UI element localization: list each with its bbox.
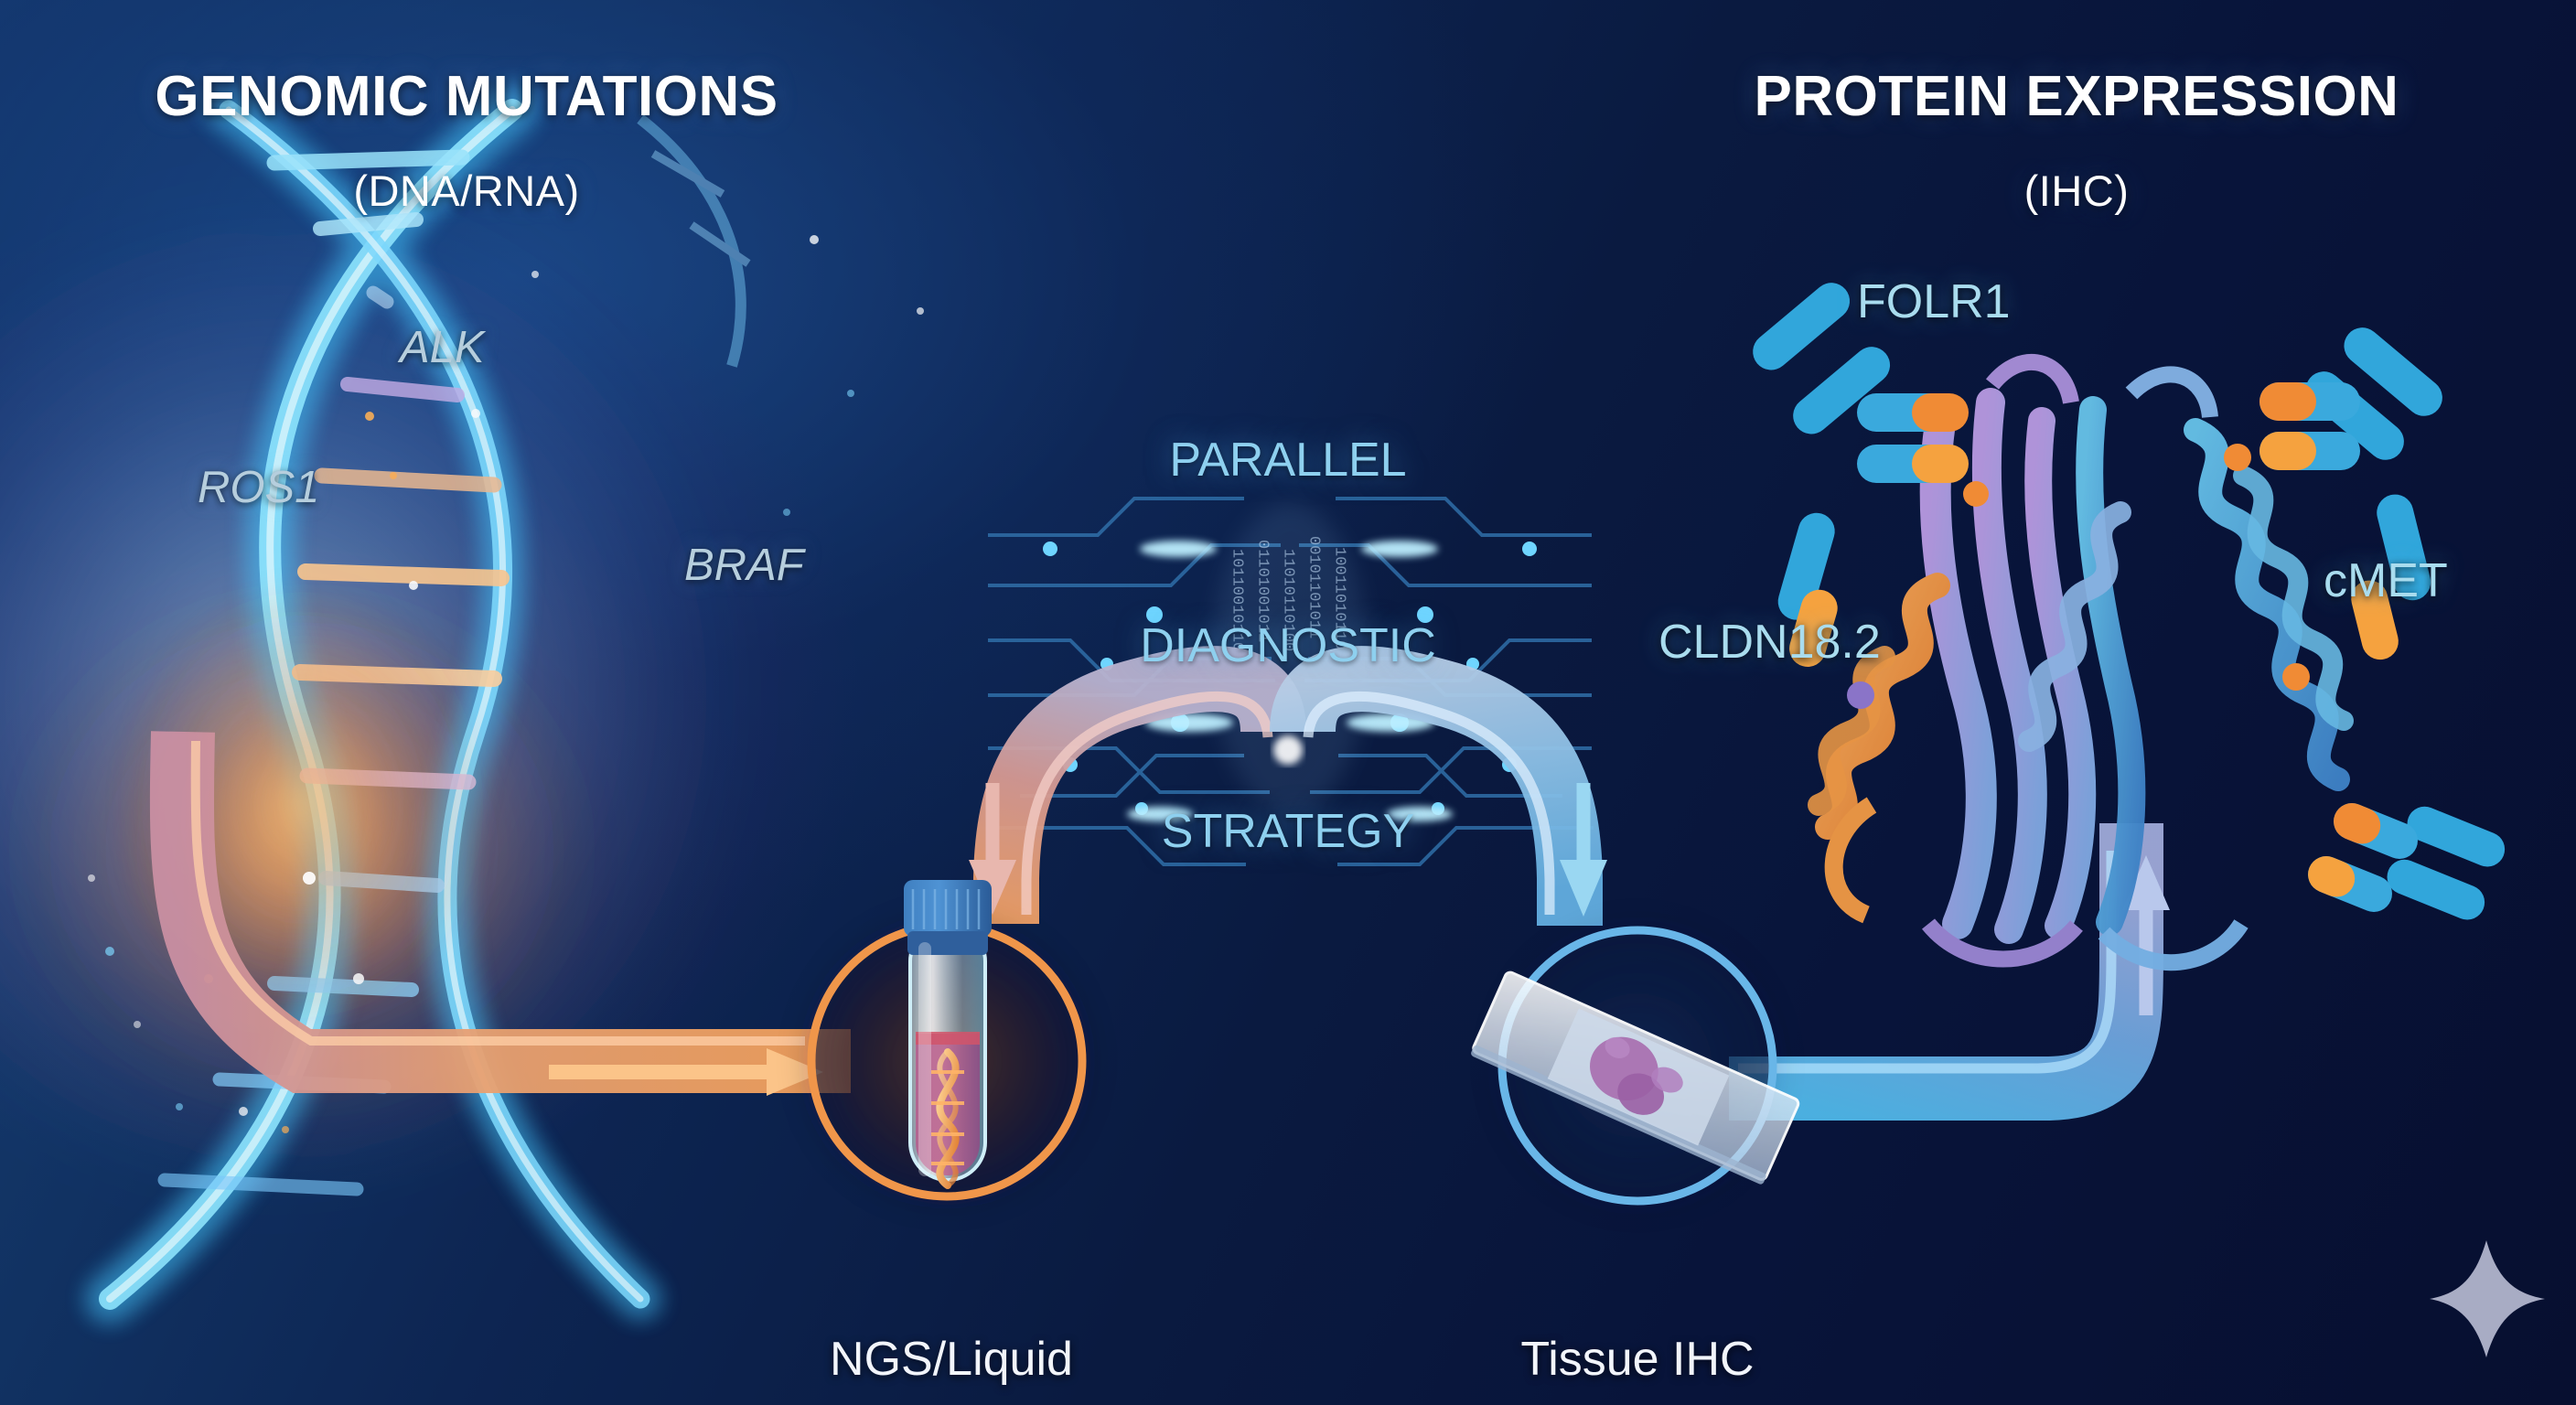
protein-label-cldn18-2: CLDN18.2	[1658, 615, 1881, 670]
right-heading-text: PROTEIN EXPRESSION	[1647, 68, 2506, 126]
protein-label-folr1: FOLR1	[1857, 274, 2011, 329]
gene-label-ros1: ROS1	[198, 462, 319, 513]
left-panel-heading: GENOMIC MUTATIONS (DNA/RNA)	[55, 35, 878, 252]
microscope-slide-icon	[1470, 971, 1800, 1185]
ihc-caption-line1: Tissue IHC	[1413, 1331, 1862, 1389]
test-tube-icon	[904, 880, 992, 1185]
background-glow	[0, 183, 750, 1207]
protein-label-cmet: cMET	[2324, 553, 2448, 608]
center-title-line2: DIAGNOSTIC	[1032, 616, 1544, 678]
ihc-node-caption: Tissue IHC Testing	[1413, 1215, 1862, 1405]
flow-ihc-to-protein	[1729, 823, 2170, 1089]
center-title-line1: PARALLEL	[1032, 430, 1544, 492]
antibody-icon-top-right	[2224, 320, 2450, 691]
ngs-node-caption: NGS/Liquid Biopsy	[723, 1215, 1180, 1405]
center-title-line3: STRATEGY	[1032, 801, 1544, 863]
gene-label-braf: BRAF	[684, 540, 804, 591]
center-title: PARALLEL DIAGNOSTIC STRATEGY	[1032, 306, 1544, 987]
dna-helix-graphic	[88, 110, 924, 1299]
right-subheading-text: (IHC)	[1647, 165, 2506, 219]
left-heading-text: GENOMIC MUTATIONS	[55, 68, 878, 126]
flow-dna-to-ngs	[182, 732, 851, 1096]
right-panel-heading: PROTEIN EXPRESSION (IHC)	[1647, 35, 2506, 252]
sparkle-icon	[2430, 1240, 2545, 1357]
diagram-canvas: 10110010110 01101001011 11010110100 0010…	[0, 0, 2576, 1405]
left-subheading-text: (DNA/RNA)	[55, 165, 878, 219]
ngs-caption-line1: NGS/Liquid	[723, 1331, 1180, 1389]
gene-label-alk: ALK	[400, 322, 485, 373]
antibody-icon-bottom-right	[2302, 798, 2510, 925]
